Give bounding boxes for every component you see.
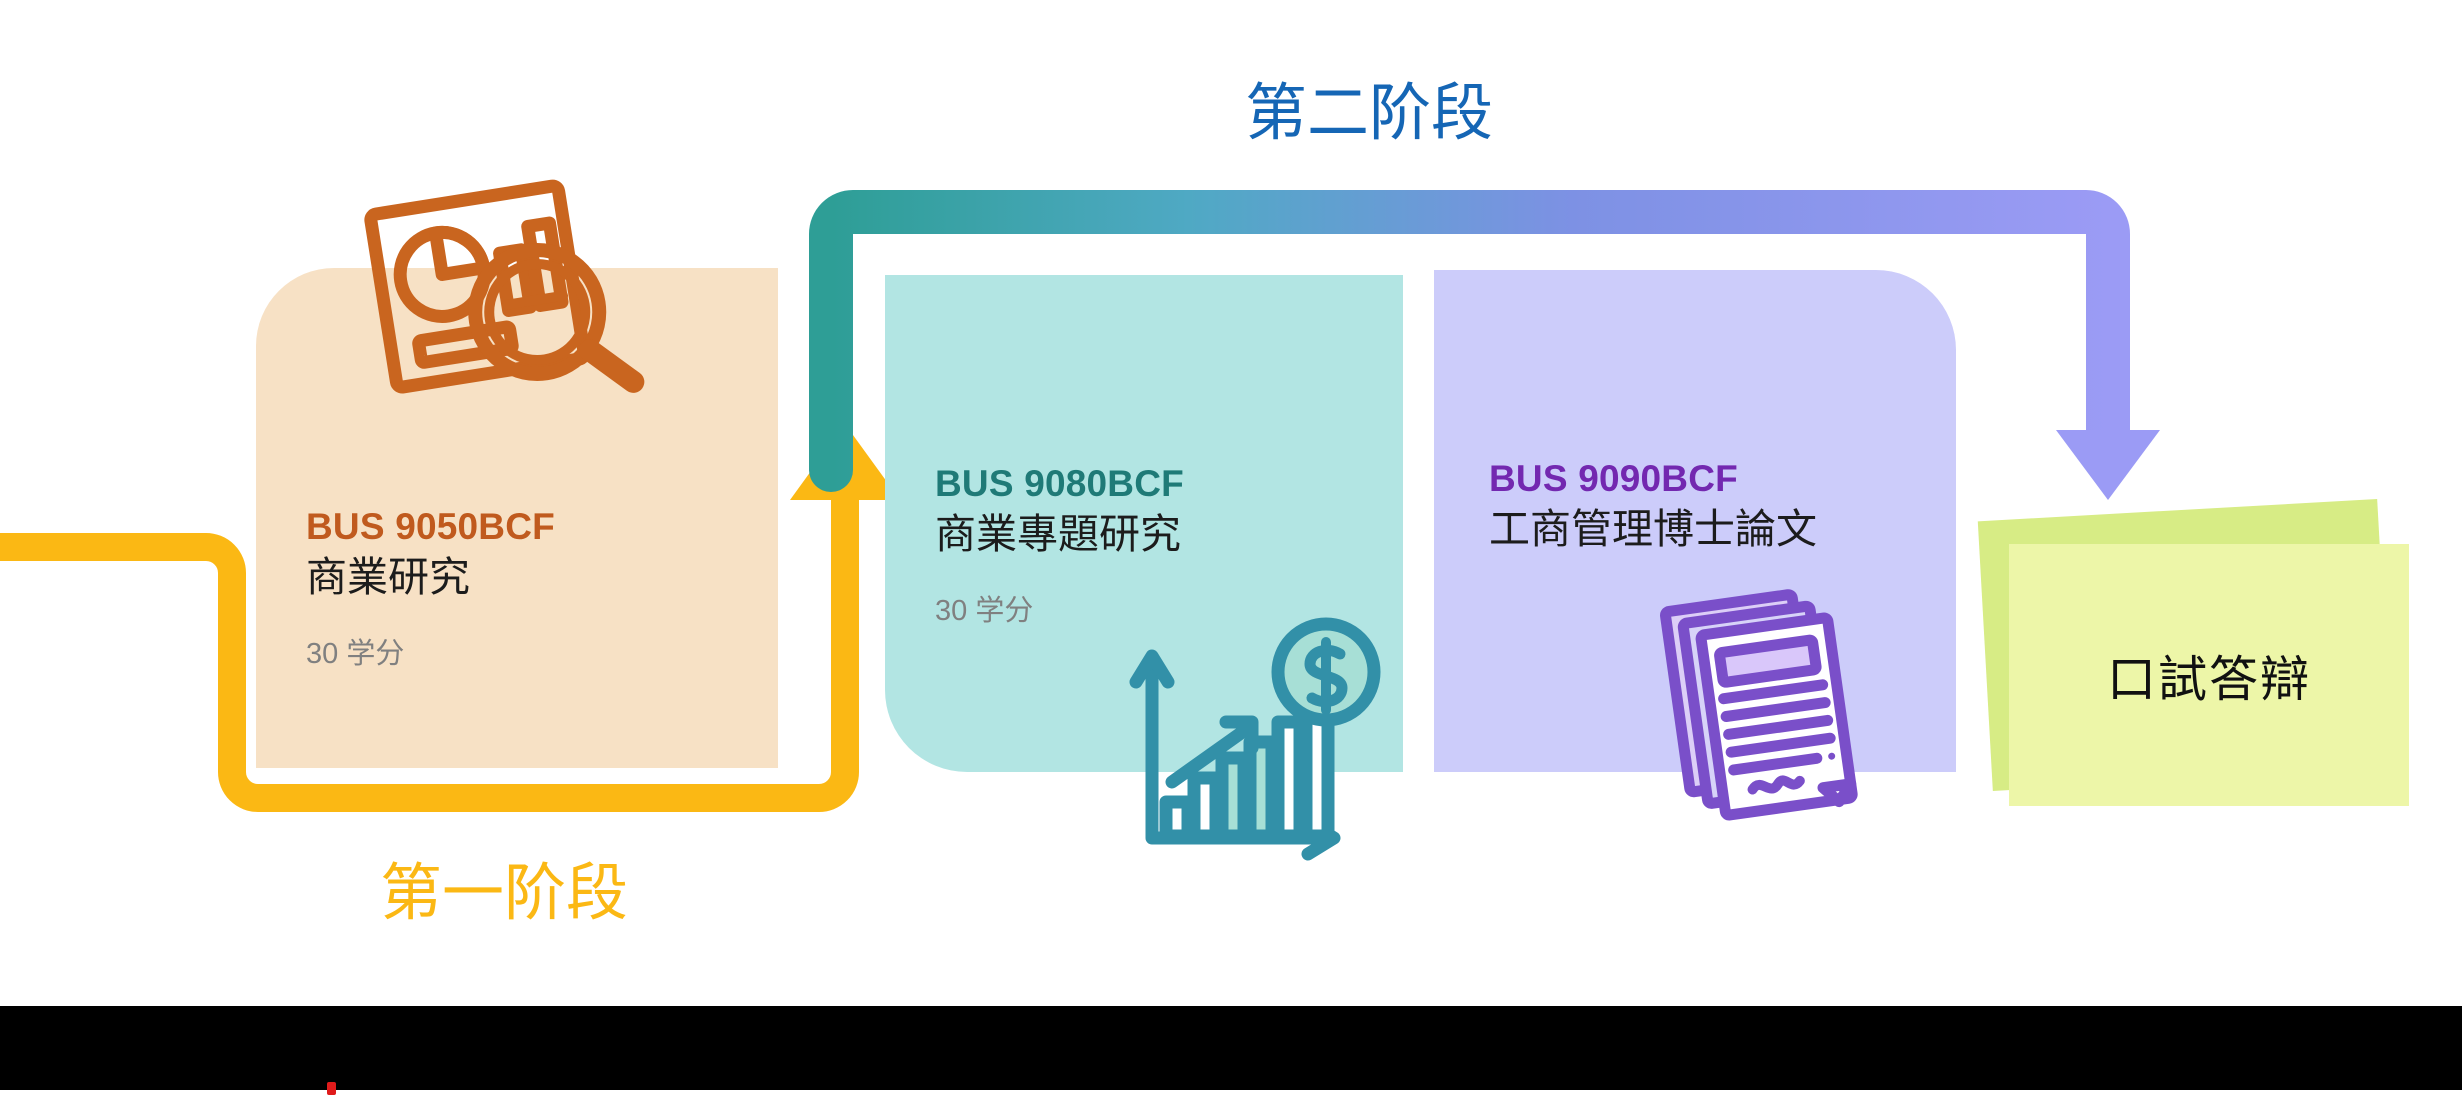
course-name: 商業專題研究 (935, 508, 1184, 560)
course-card-3-body: BUS 9090BCF 工商管理博士論文 (1489, 456, 1817, 556)
course-name: 工商管理博士論文 (1489, 503, 1817, 555)
bottom-black-bar (0, 1006, 2462, 1090)
course-credits: 30 学分 (935, 587, 1184, 629)
course-code: BUS 9080BCF (935, 461, 1184, 506)
course-card-2-body: BUS 9080BCF 商業專題研究 30 学分 (935, 461, 1184, 629)
course-card-2[interactable]: BUS 9080BCF 商業專題研究 30 学分 (885, 275, 1403, 772)
course-card-1-body: BUS 9050BCF 商業研究 30 学分 (306, 504, 555, 672)
course-code: BUS 9050BCF (306, 504, 555, 549)
course-card-3[interactable]: BUS 9090BCF 工商管理博士論文 (1434, 270, 1956, 772)
course-card-1[interactable]: BUS 9050BCF 商業研究 30 学分 (256, 268, 778, 768)
oral-defence-front-card: 口試答辯 (2009, 544, 2409, 806)
course-name: 商業研究 (306, 551, 555, 603)
course-credits: 30 学分 (306, 630, 555, 672)
stage-label-1: 第一阶段 (380, 842, 628, 932)
oral-defence-label: 口試答辯 (2107, 640, 2311, 711)
stage-label-2: 第二阶段 (1245, 62, 1493, 152)
diagram-canvas: BUS 9050BCF 商業研究 30 学分 BUS 9080BCF 商業專題研… (0, 0, 2462, 1090)
bottom-red-marker (327, 1082, 336, 1095)
course-code: BUS 9090BCF (1489, 456, 1817, 501)
oral-defence-node[interactable]: 口試答辯 (1985, 510, 2405, 810)
